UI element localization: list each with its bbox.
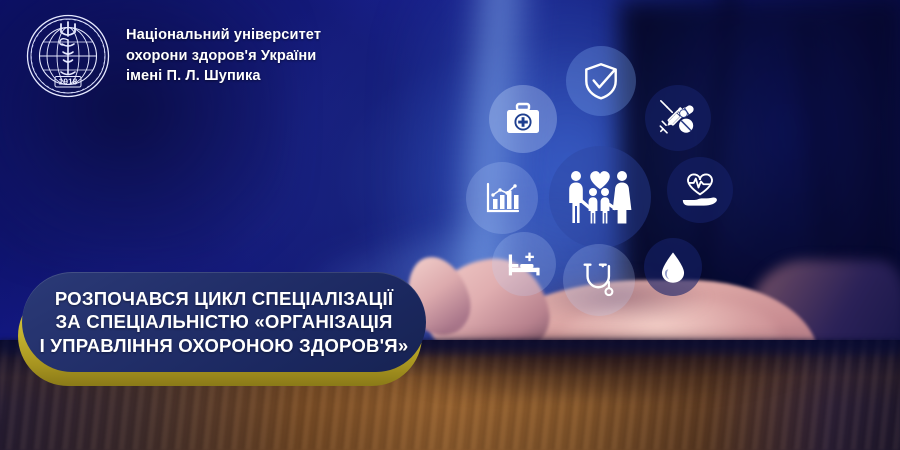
- university-name: Національний університет охорони здоров'…: [126, 25, 321, 87]
- brand-lockup: 1918 Національний університет охорони зд…: [26, 14, 321, 98]
- shield-check-icon: [566, 46, 636, 116]
- heart-in-hand-icon: [667, 157, 733, 223]
- university-emblem-icon: 1918: [26, 14, 110, 98]
- headline-text: РОЗПОЧАВСЯ ЦИКЛ СПЕЦІАЛІЗАЦІЇ ЗА СПЕЦІАЛ…: [28, 287, 421, 358]
- first-aid-kit-icon: [489, 85, 557, 153]
- headline-plaque: РОЗПОЧАВСЯ ЦИКЛ СПЕЦІАЛІЗАЦІЇ ЗА СПЕЦІАЛ…: [18, 272, 426, 374]
- bar-chart-icon: [466, 162, 538, 234]
- plaque-body: РОЗПОЧАВСЯ ЦИКЛ СПЕЦІАЛІЗАЦІЇ ЗА СПЕЦІАЛ…: [22, 272, 426, 372]
- stethoscope-icon: [563, 244, 635, 316]
- emblem-year: 1918: [59, 77, 78, 87]
- syringe-pills-icon: [645, 85, 711, 151]
- family-heart-icon: [549, 146, 651, 248]
- hospital-bed-icon: [492, 232, 556, 296]
- water-drop-icon: [644, 238, 702, 296]
- promo-banner: 1918 Національний університет охорони зд…: [0, 0, 900, 450]
